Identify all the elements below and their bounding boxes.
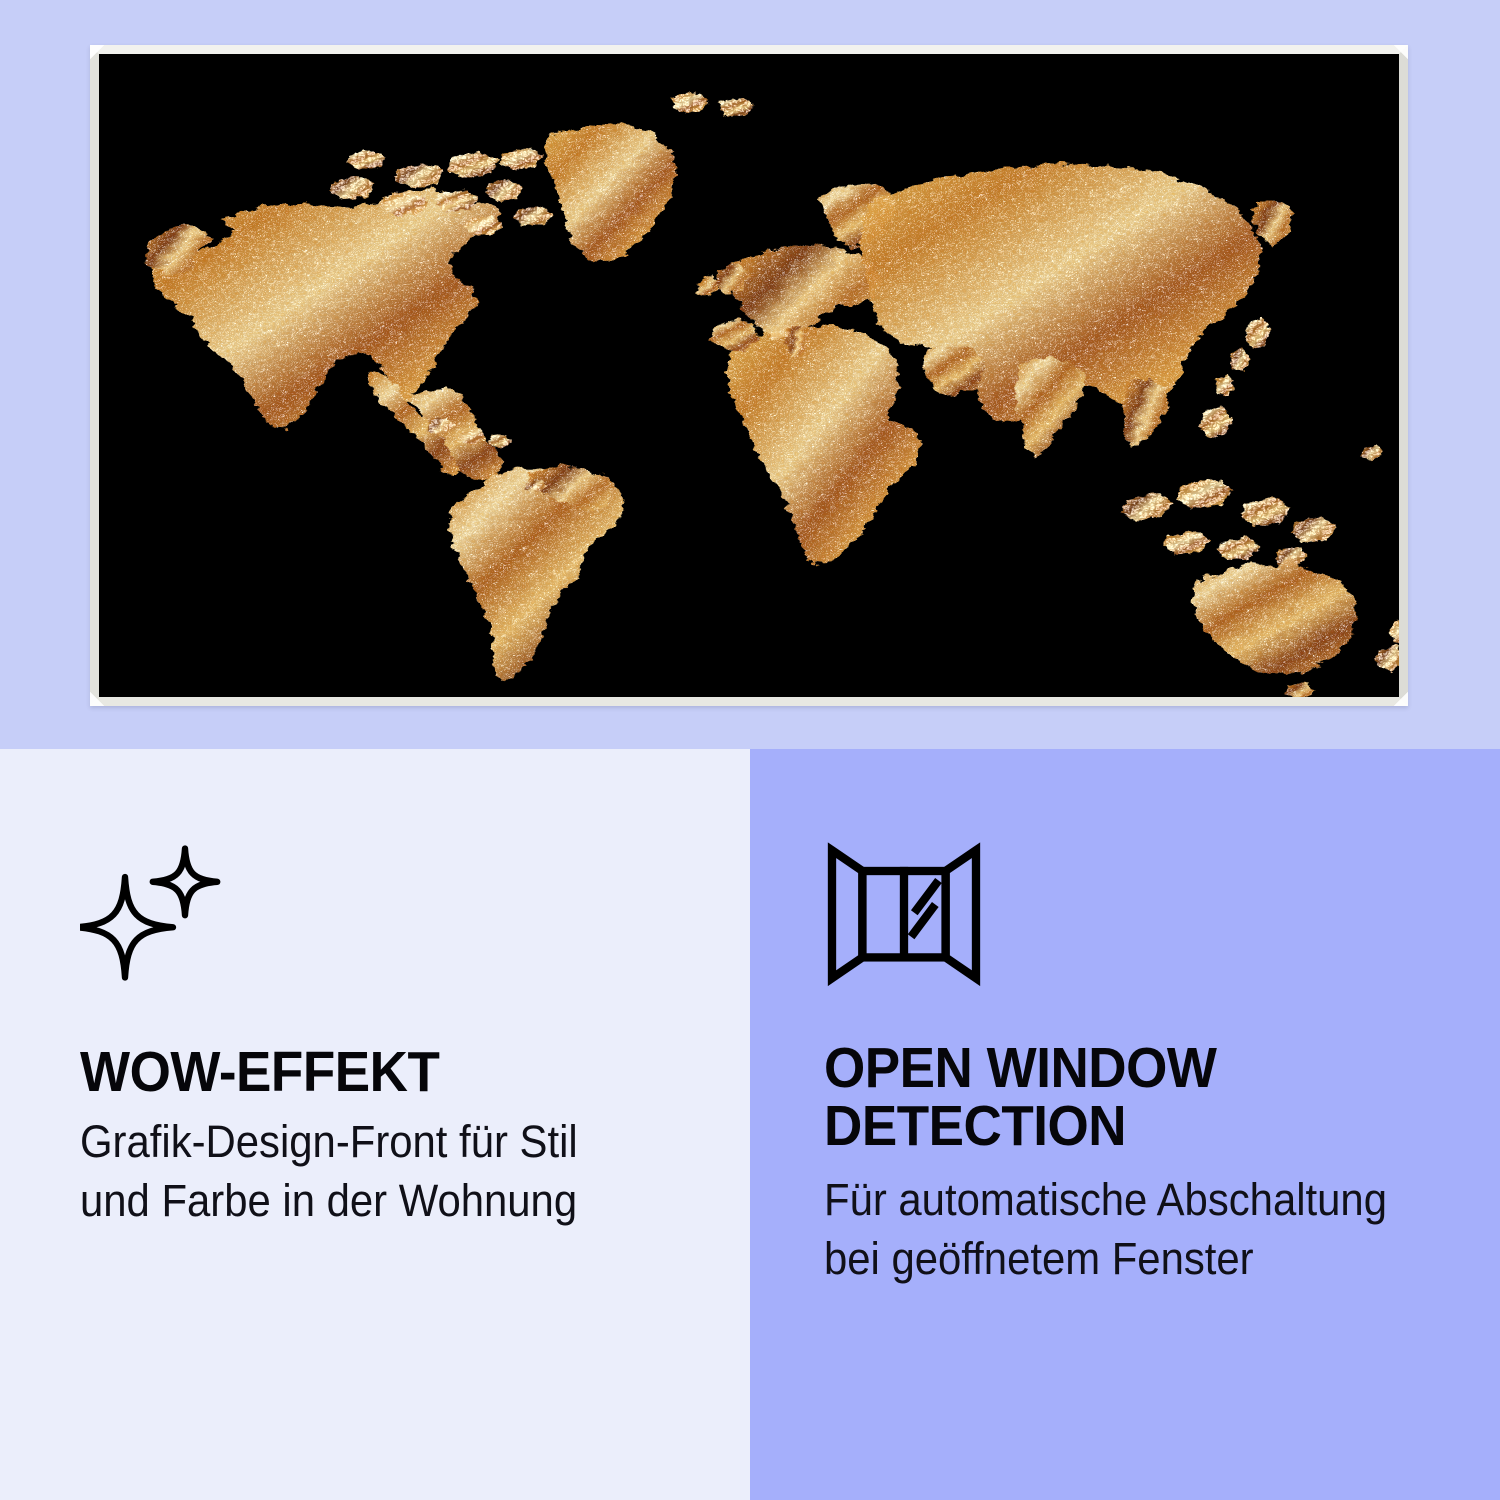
hero-artwork-panel xyxy=(0,0,1500,749)
feature-panels: WOW-EFFEKT Grafik-Design-Front für Stil … xyxy=(0,749,1500,1500)
artwork-canvas xyxy=(99,54,1399,697)
feature-panel-open-window-detection: OPEN WINDOW DETECTION Für automatische A… xyxy=(750,749,1500,1500)
picture-frame xyxy=(90,45,1408,706)
feature-description: Grafik-Design-Front für Stil und Farbe i… xyxy=(80,1113,651,1230)
feature-icon-container xyxy=(80,821,694,991)
sparkle-icon xyxy=(80,841,230,991)
product-feature-page: WOW-EFFEKT Grafik-Design-Front für Stil … xyxy=(0,0,1500,1500)
feature-description: Für automatische Abschaltung bei geöffne… xyxy=(824,1171,1401,1288)
gold-foil-world-map-image xyxy=(99,54,1399,697)
feature-icon-container xyxy=(824,821,1444,991)
feature-title: WOW-EFFEKT xyxy=(80,1043,651,1101)
feature-panel-wow-effekt: WOW-EFFEKT Grafik-Design-Front für Stil … xyxy=(0,749,750,1500)
open-window-icon xyxy=(824,831,984,991)
feature-title: OPEN WINDOW DETECTION xyxy=(824,1039,1401,1155)
